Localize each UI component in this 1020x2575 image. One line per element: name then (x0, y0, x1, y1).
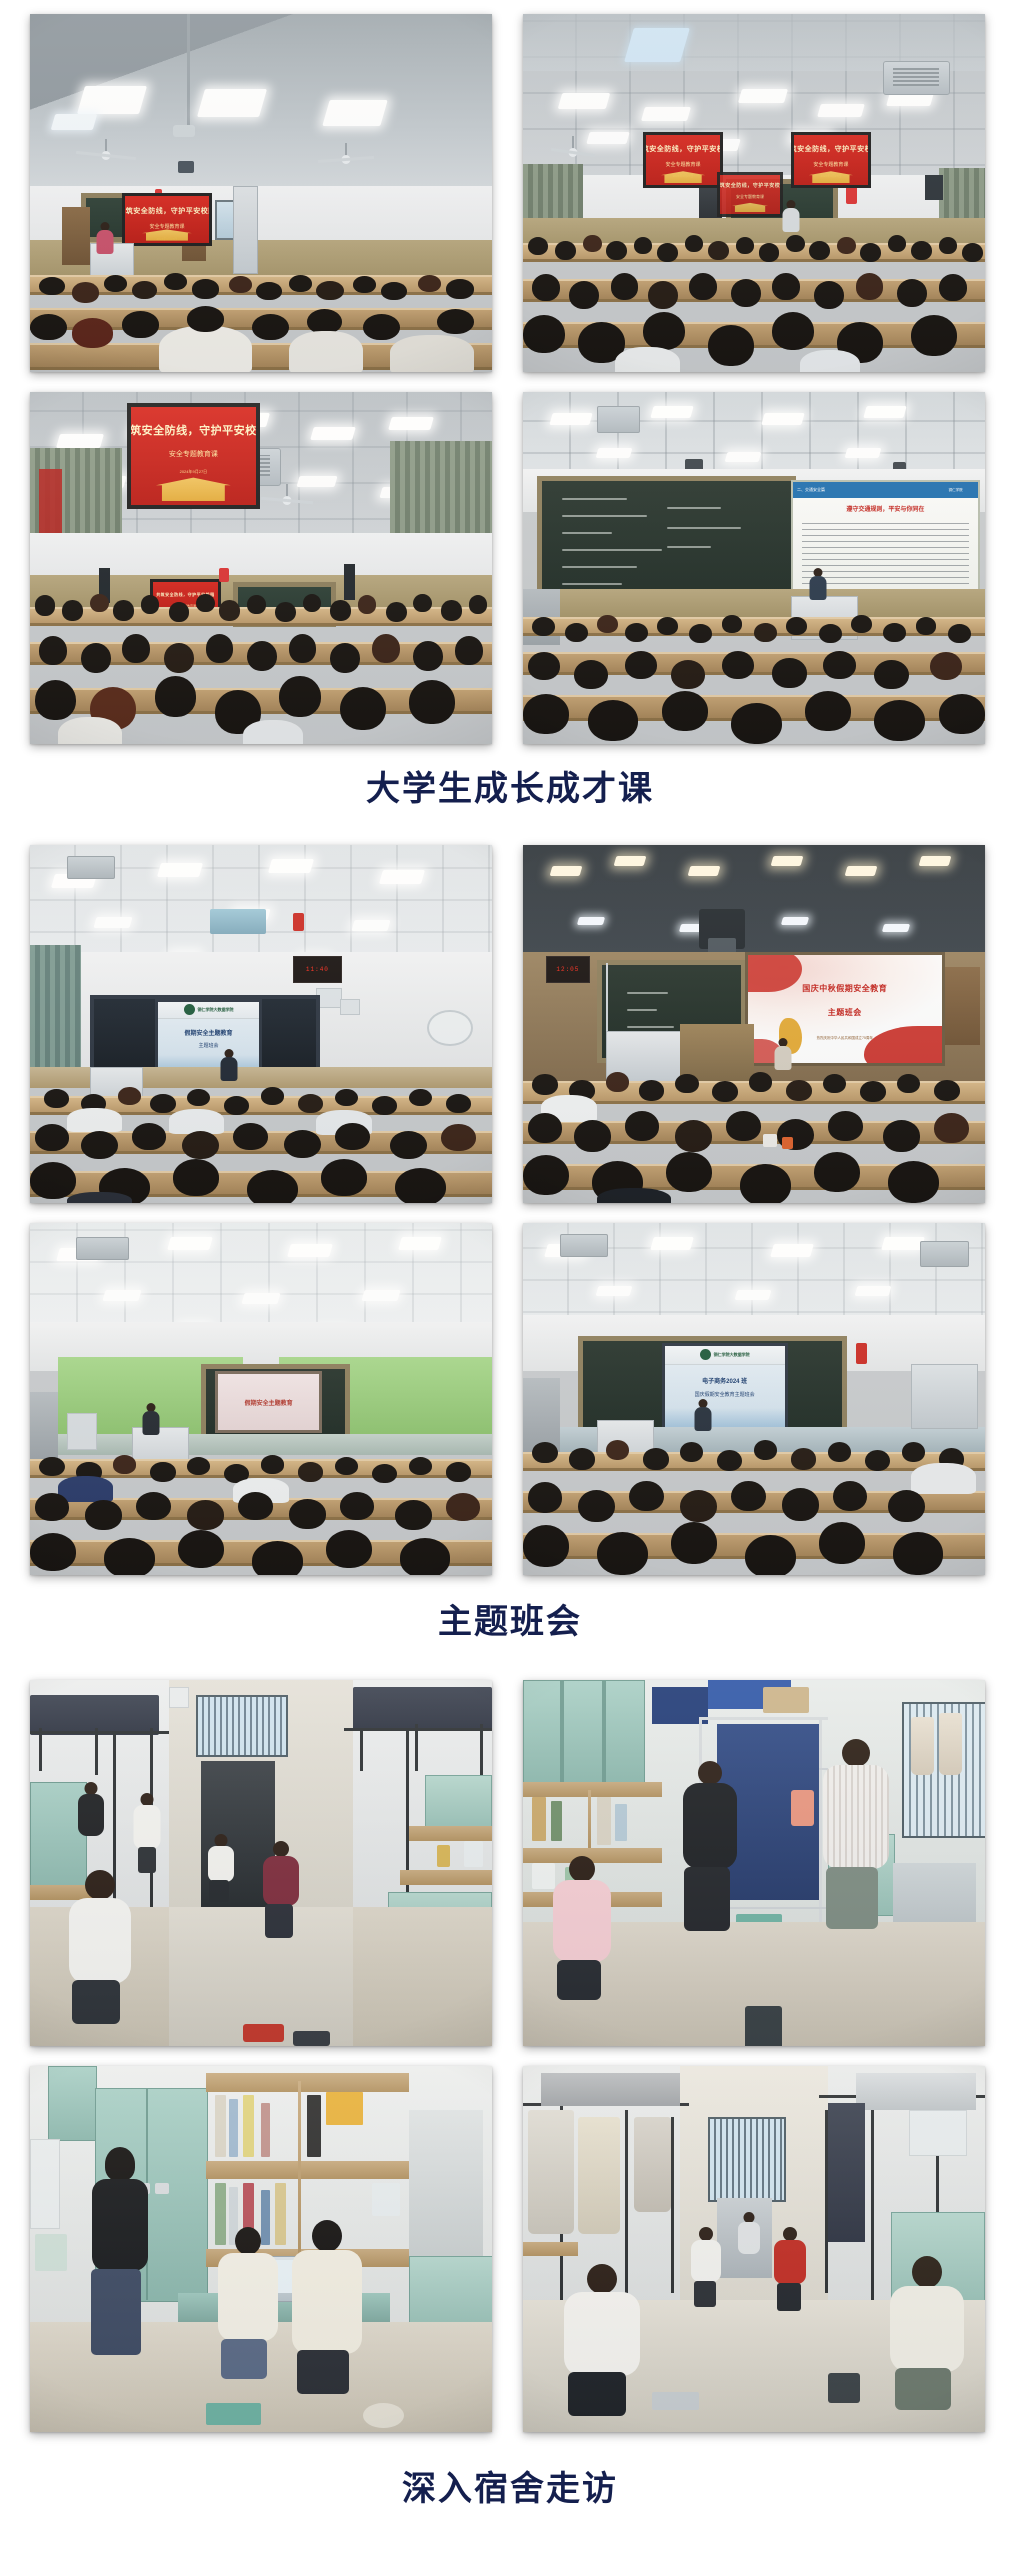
section-growth-course: 共筑安全防线，守护平安校园 安全专题教育课 2024年9月27日 (0, 0, 1020, 815)
poster-page: 共筑安全防线，守护平安校园 安全专题教育课 2024年9月27日 (0, 0, 1020, 2575)
photo-classroom-smartboard-meeting: 11:40 铜仁学院大数据学院 假期安全主题教育 主题班会 (30, 845, 492, 1203)
photo-dorm-male-students-talking (30, 1680, 492, 2046)
caption-theme-class-meeting: 主题班会 (0, 1605, 1020, 1639)
photo-lecture-hall-red-screen-closeup: 共筑安全防线，守护平安校园 安全专题教育课 2024年9月27日 共筑安全防线，… (30, 392, 492, 744)
photo-classroom-traffic-safety-slide: 二、交通安全篇 铜仁学院 遵守交通规则，平安与你同在 (523, 392, 985, 744)
photo-classroom-green-wall-meeting: 假期安全主题教育 (30, 1223, 492, 1575)
photo-dorm-female-students-standing (523, 1680, 985, 2046)
photo-lecture-hall-two-red-screens: 共筑安全防线，守护平安校园 安全专题教育课 2024年9月27日 共筑安全防线，… (523, 14, 985, 372)
caption-growth-course: 大学生成长成才课 (0, 772, 1020, 806)
section-dorm-visits: 深入宿舍走访 (0, 1680, 1020, 2575)
photo-dorm-group-seated-conversation (523, 2066, 985, 2432)
photo-classroom-electronics-class-meeting: 铜仁学院大数据学院 电子商务2024 班 国庆假期安全教育主题班会 (523, 1223, 985, 1575)
photo-lecture-hall-wide-view: 共筑安全防线，守护平安校园 安全专题教育课 2024年9月27日 (30, 14, 492, 372)
section-theme-class-meeting: 11:40 铜仁学院大数据学院 假期安全主题教育 主题班会 (0, 845, 1020, 1660)
photo-classroom-national-day-slide: 12:05 国庆中秋假期安全教育 (523, 845, 985, 1203)
caption-dorm-visits: 深入宿舍走访 (0, 2472, 1020, 2506)
photo-dorm-teacher-with-students-laptop (30, 2066, 492, 2432)
